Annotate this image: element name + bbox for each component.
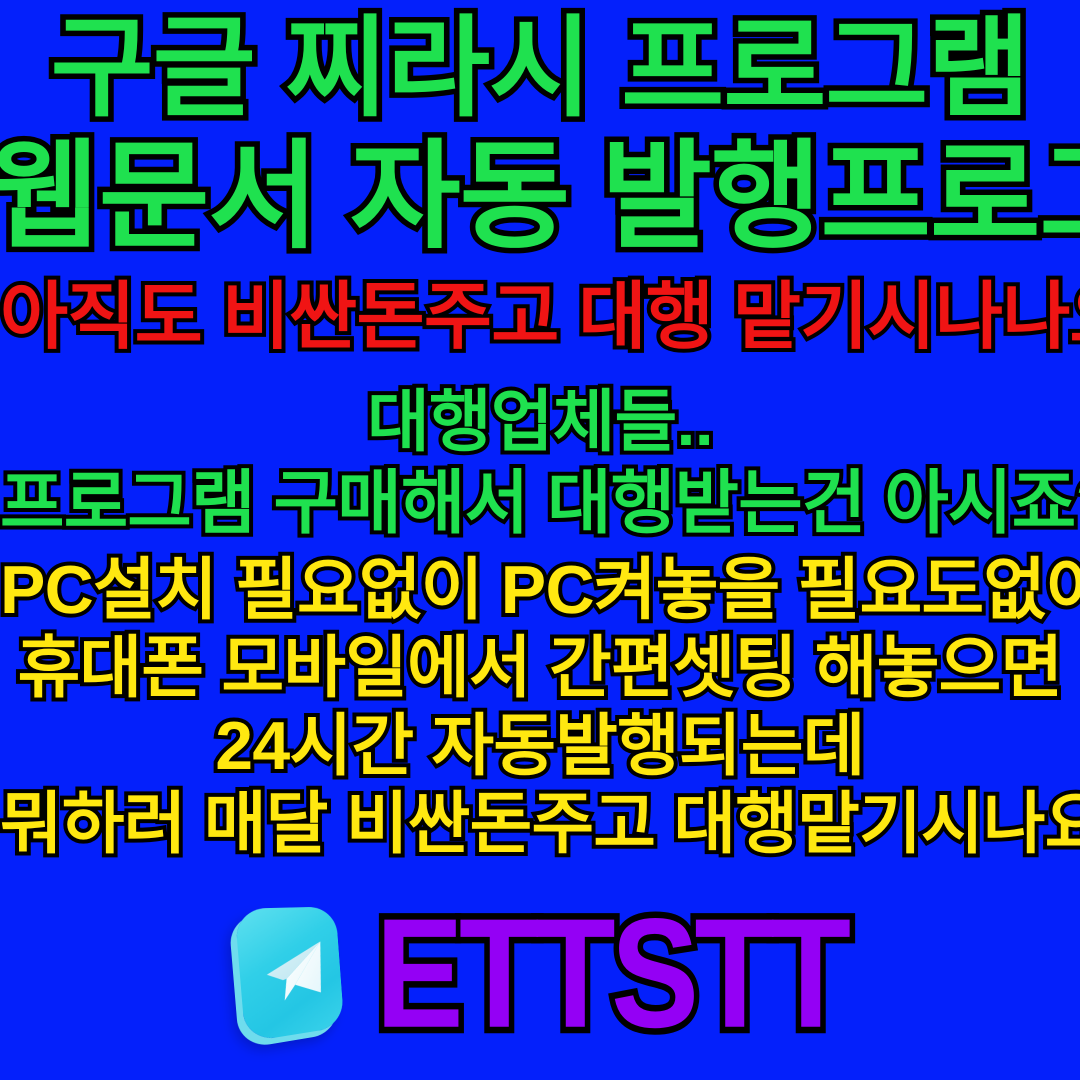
benefit-line-3: 24시간 자동발행되는데 — [0, 712, 1080, 780]
title-line-2: 웹문서 자동 발행프로그램 — [0, 138, 1080, 256]
benefit-line-2: 휴대폰 모바일에서 간편셋팅 해놓으면 — [0, 634, 1080, 702]
benefit-line-1: PC설치 필요없이 PC켜놓을 필요도없이 — [0, 556, 1080, 624]
benefit-line-4: 뭐하러 매달 비싼돈주고 대행맡기시나요 — [0, 790, 1080, 858]
promo-banner: 구글 찌라시 프로그램 웹문서 자동 발행프로그램 아직도 비싼돈주고 대행 맡… — [0, 0, 1080, 1080]
title-line-1: 구글 찌라시 프로그램 — [0, 14, 1080, 124]
brand-row: ETTSTT — [0, 876, 1080, 1076]
agency-line-1: 대행업체들.. — [0, 388, 1080, 456]
agency-line-2: 프로그램 구매해서 대행받는건 아시죠? — [0, 468, 1080, 538]
paper-plane-icon — [261, 937, 330, 1008]
brand-name: ETTSTT — [376, 896, 847, 1052]
telegram-icon[interactable] — [234, 901, 360, 1051]
headline-red-question: 아직도 비싼돈주고 대행 맡기시나나요? — [0, 280, 1080, 354]
